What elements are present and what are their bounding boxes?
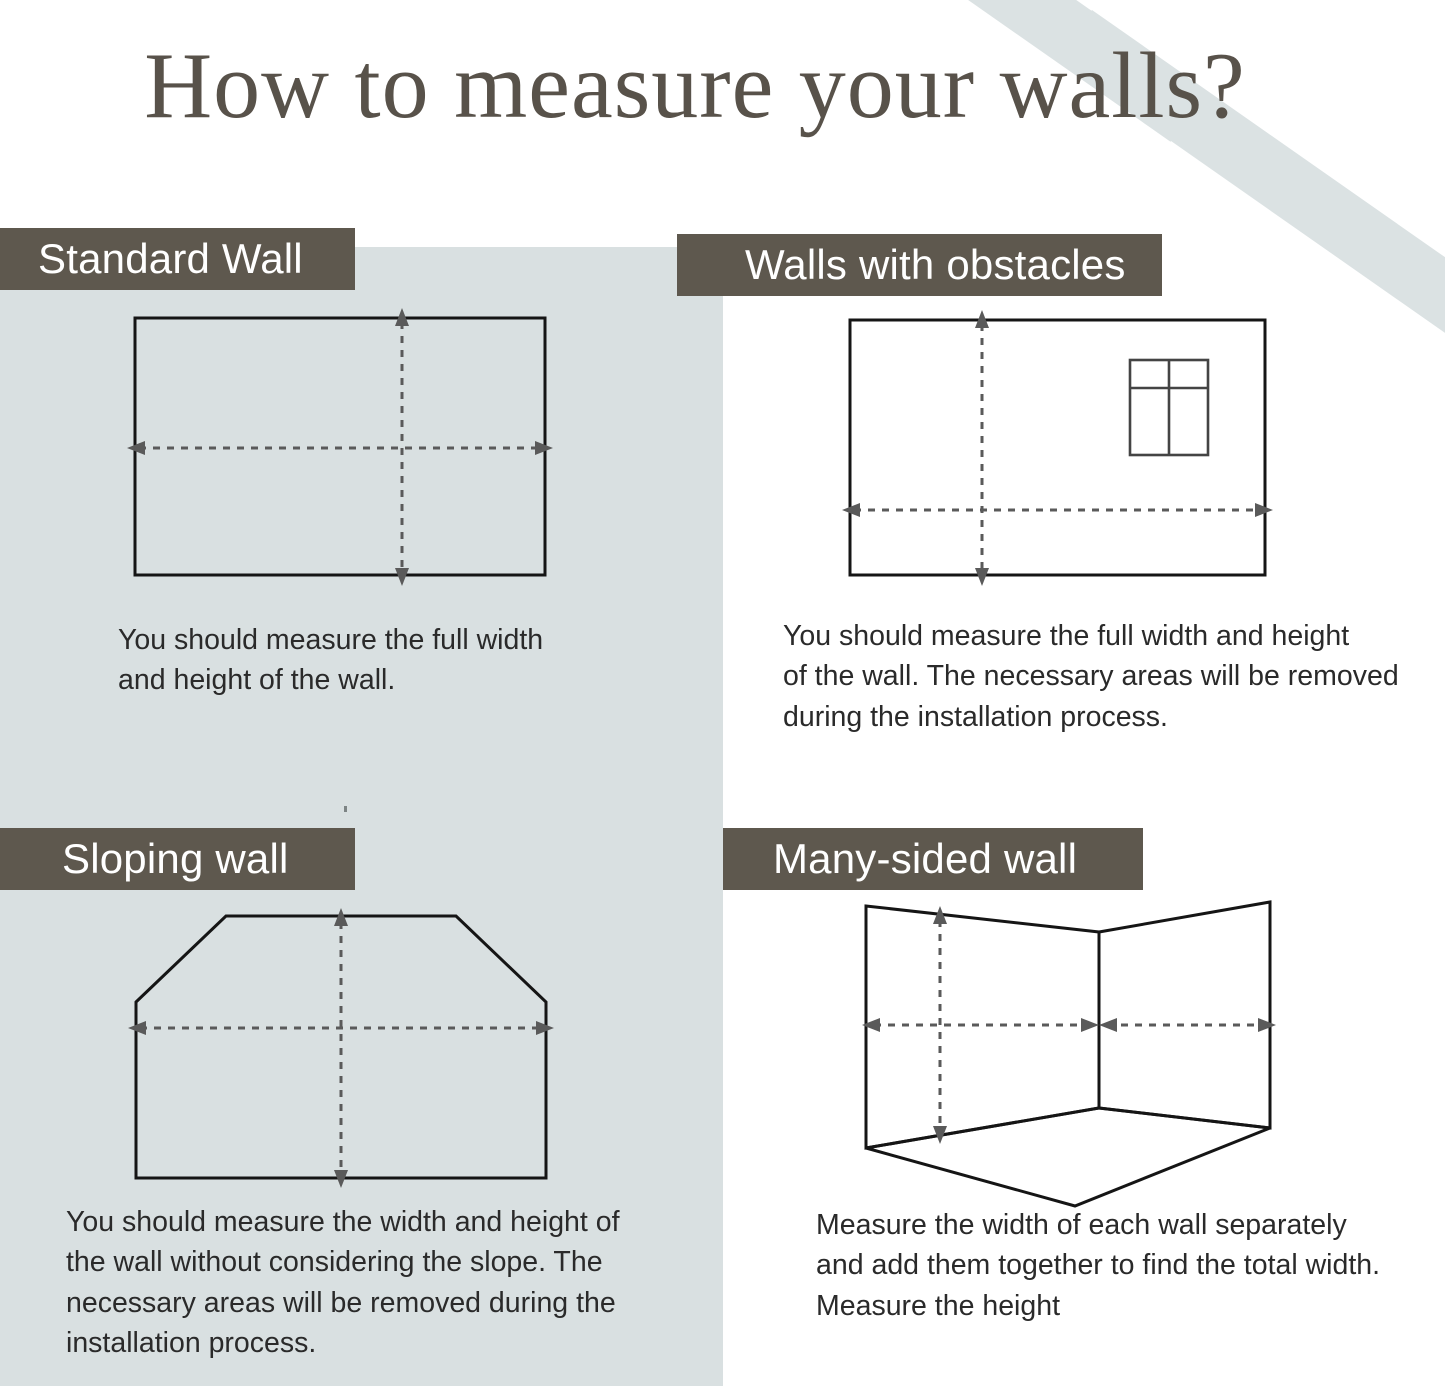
window-obstacle-icon <box>1130 360 1208 455</box>
caption-walls-with-obstacles: You should measure the full width and he… <box>783 616 1423 737</box>
section-header-sloping-wall: Sloping wall <box>0 828 355 890</box>
caption-many-sided-wall: Measure the width of each wall separatel… <box>816 1205 1426 1326</box>
walls-with-obstacles-diagram <box>820 300 1300 600</box>
page-title: How to measure your walls? <box>0 32 1390 140</box>
section-header-standard-wall: Standard Wall <box>0 228 355 290</box>
section-header-many-sided-wall-label: Many-sided wall <box>773 835 1077 883</box>
infographic-root: How to measure your walls? Standard Wall… <box>0 0 1445 1386</box>
caption-sloping-wall: You should measure the width and height … <box>66 1202 666 1364</box>
section-header-walls-with-obstacles: Walls with obstacles <box>677 234 1162 296</box>
standard-wall-diagram <box>110 300 580 600</box>
scan-artifact-dot <box>344 806 347 812</box>
section-header-walls-with-obstacles-label: Walls with obstacles <box>745 241 1126 289</box>
many-sided-wall-diagram <box>830 880 1300 1220</box>
sloping-wall-diagram <box>100 890 600 1200</box>
caption-standard-wall: You should measure the full width and he… <box>118 620 638 701</box>
section-header-standard-wall-label: Standard Wall <box>38 235 303 283</box>
section-header-sloping-wall-label: Sloping wall <box>62 835 289 883</box>
